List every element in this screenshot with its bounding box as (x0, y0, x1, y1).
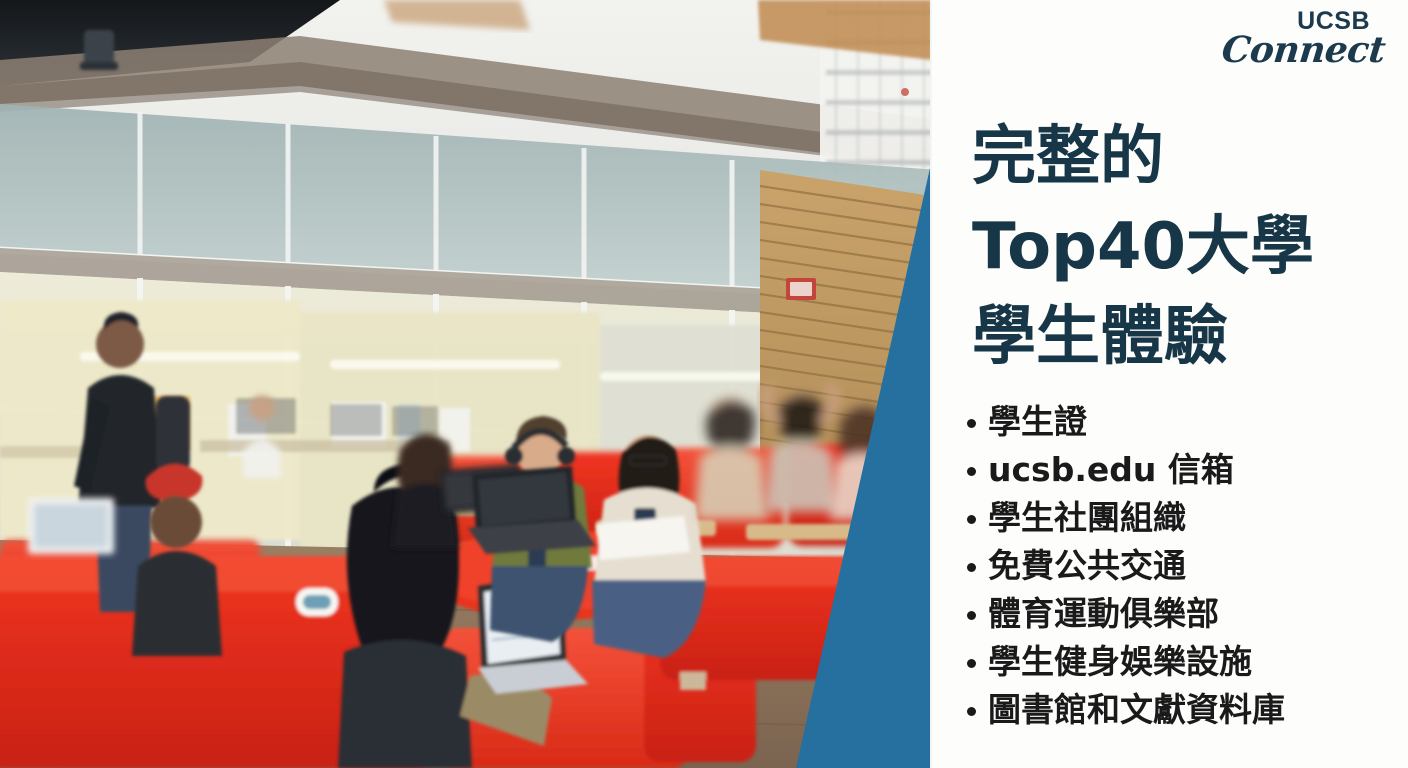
headline-line-3: 學生體驗 (972, 292, 1392, 382)
list-item: 學生社團組織 (964, 494, 1404, 542)
headline-line-1: 完整的 (972, 112, 1392, 202)
page-title: 完整的 Top40大學 學生體驗 (972, 112, 1392, 382)
list-item: 圖書館和文獻資料庫 (964, 686, 1404, 734)
ucsb-connect-logo[interactable]: UCSB Connect (1222, 8, 1372, 80)
list-item: 學生證 (964, 398, 1404, 446)
list-item: 免費公共交通 (964, 542, 1404, 590)
headline-line-2: Top40大學 (972, 202, 1392, 292)
marketing-slide: UCSB Connect 完整的 Top40大學 學生體驗 學生證 ucsb.e… (0, 0, 1408, 768)
list-item: ucsb.edu 信箱 (964, 446, 1404, 494)
list-item: 體育運動俱樂部 (964, 590, 1404, 638)
logo-connect-text: Connect (1220, 31, 1374, 69)
content-panel: UCSB Connect 完整的 Top40大學 學生體驗 學生證 ucsb.e… (932, 0, 1408, 768)
campus-lounge-photo (0, 0, 932, 768)
benefits-list: 學生證 ucsb.edu 信箱 學生社團組織 免費公共交通 體育運動俱樂部 學生… (964, 398, 1404, 734)
list-item: 學生健身娛樂設施 (964, 638, 1404, 686)
